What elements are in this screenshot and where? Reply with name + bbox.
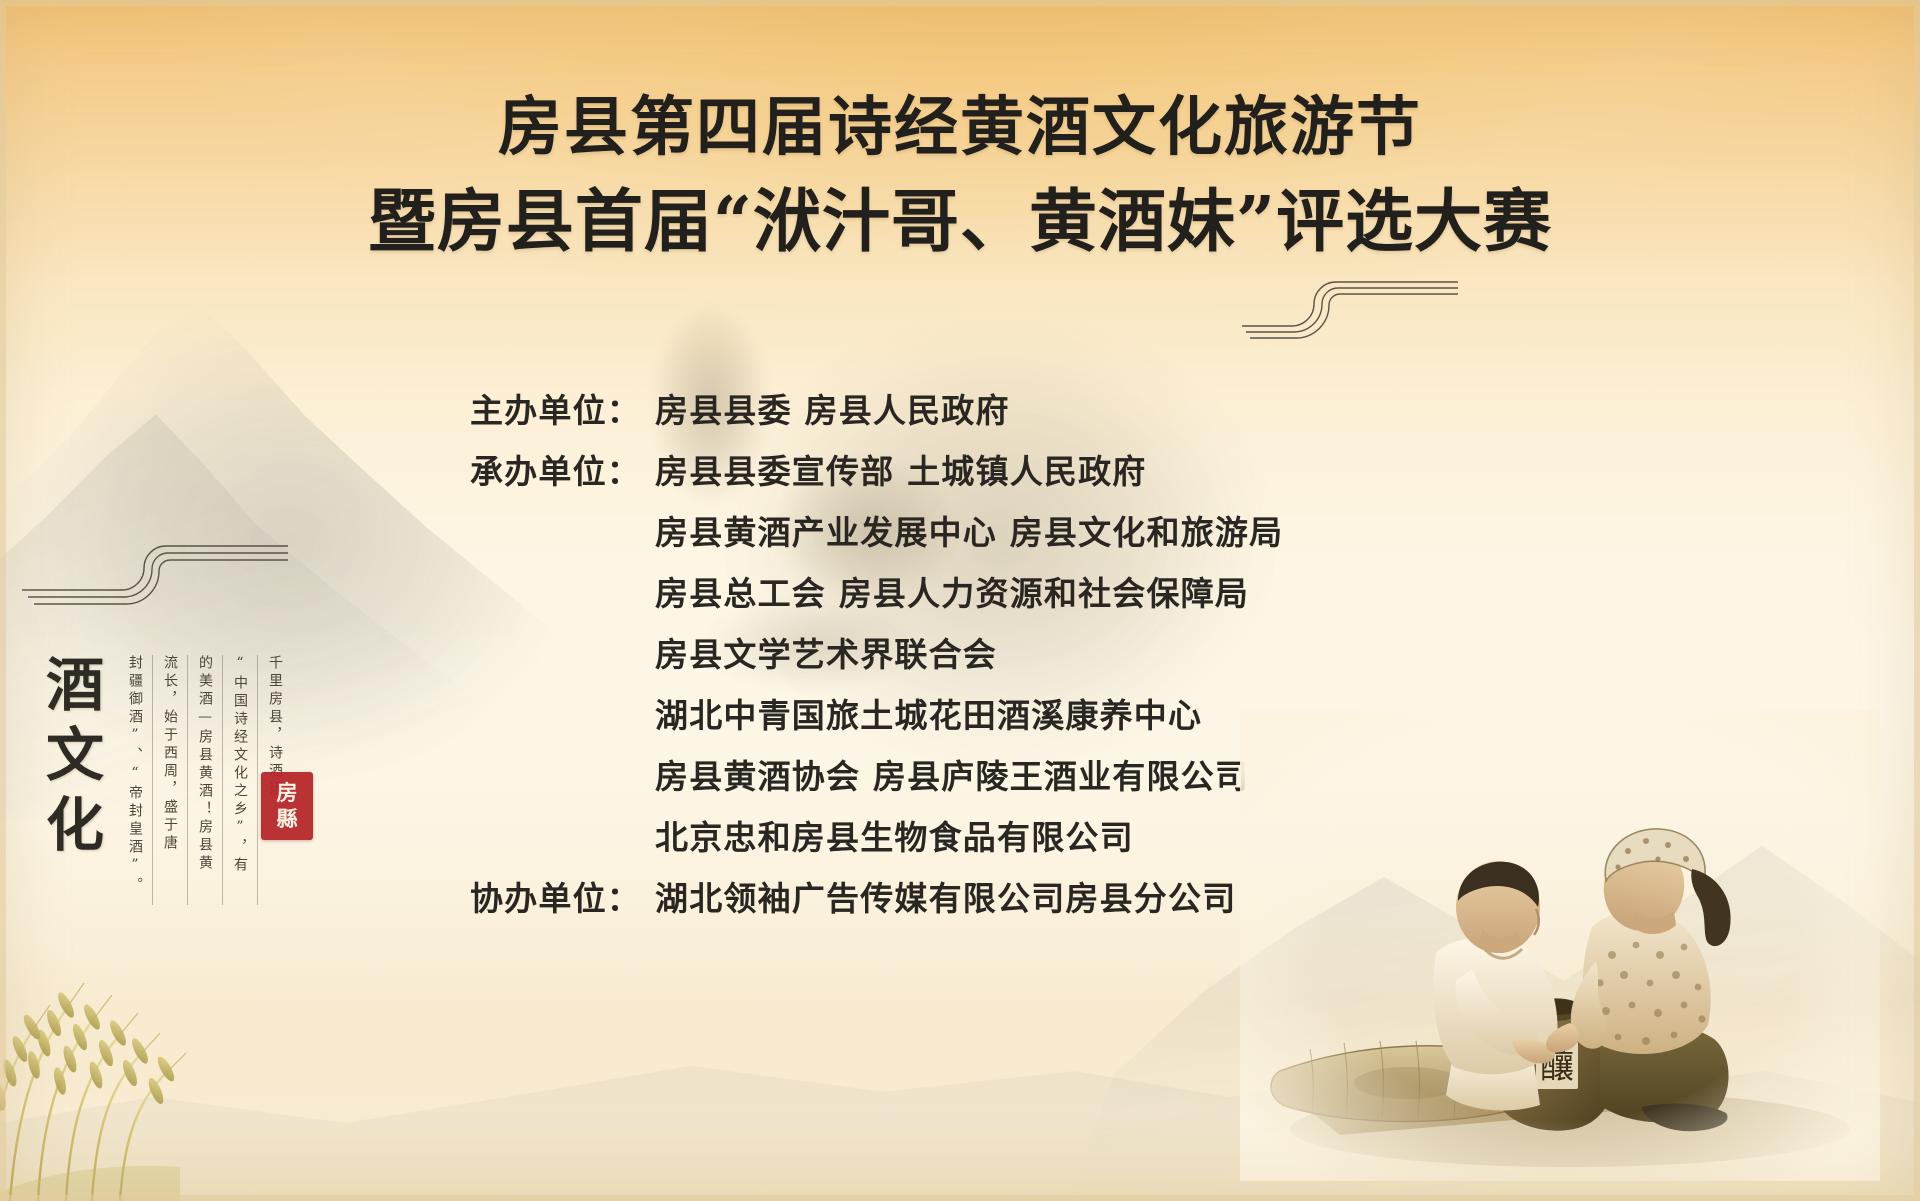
organizer-value: 房县总工会 房县人力资源和社会保障局 xyxy=(655,563,1530,624)
organizer-row: 主办单位： 房县县委 房县人民政府 xyxy=(470,380,1530,441)
title-block: 房县第四届诗经黄酒文化旅游节 暨房县首届“洑汁哥、黄酒妹”评选大赛 xyxy=(0,86,1920,268)
organizer-row: 房县文学艺术界联合会 xyxy=(470,624,1530,685)
organizer-list: 主办单位： 房县县委 房县人民政府 承办单位： 房县县委宣传部 土城镇人民政府 … xyxy=(470,380,1530,929)
vertical-text-column: 的美酒—房县黄酒！房县黄 xyxy=(187,655,222,905)
ink-mountain-bottom xyxy=(0,941,1920,1201)
vertical-text-column: “中国诗经文化之乡”，有 xyxy=(222,655,257,905)
organizer-value: 湖北中青国旅土城花田酒溪康养中心 xyxy=(655,685,1530,746)
organizer-value: 湖北领袖广告传媒有限公司房县分公司 xyxy=(655,868,1530,929)
wheat-stalks-illustration xyxy=(0,871,360,1201)
organizer-row: 协办单位： 湖北领袖广告传媒有限公司房县分公司 xyxy=(470,868,1530,929)
organizer-value: 房县县委宣传部 土城镇人民政府 xyxy=(655,441,1530,502)
organizer-value: 房县文学艺术界联合会 xyxy=(655,624,1530,685)
red-seal-stamp: 房 縣 xyxy=(261,772,313,840)
organizer-row: 北京忠和房县生物食品有限公司 xyxy=(470,807,1530,868)
page-title-line-2: 暨房县首届“洑汁哥、黄酒妹”评选大赛 xyxy=(0,176,1920,268)
organizer-label: 主办单位： xyxy=(470,380,655,441)
organizer-value: 北京忠和房县生物食品有限公司 xyxy=(655,807,1530,868)
vertical-heading-jiu-wen-hua: 酒 文 化 xyxy=(30,650,120,860)
vertical-text-column: 流长，始于西周，盛于唐 xyxy=(152,655,187,905)
organizer-row: 房县黄酒协会 房县庐陵王酒业有限公司 xyxy=(470,746,1530,807)
svg-text:釀: 釀 xyxy=(1540,1047,1574,1087)
organizer-row: 房县总工会 房县人力资源和社会保障局 xyxy=(470,563,1530,624)
vertical-heading-char: 文 xyxy=(30,720,120,790)
organizer-value: 房县黄酒协会 房县庐陵王酒业有限公司 xyxy=(655,746,1530,807)
vertical-heading-char: 化 xyxy=(30,790,120,860)
vertical-text-column: 封疆御酒”、“帝封皇酒”。 xyxy=(118,655,152,905)
organizer-row: 湖北中青国旅土城花田酒溪康养中心 xyxy=(470,685,1530,746)
page-title-line-1: 房县第四届诗经黄酒文化旅游节 xyxy=(0,86,1920,170)
ruyi-cloud-icon-left xyxy=(20,538,290,628)
organizer-value: 房县县委 房县人民政府 xyxy=(655,380,1530,441)
organizer-value: 房县黄酒产业发展中心 房县文化和旅游局 xyxy=(655,502,1530,563)
poster-canvas: 房县第四届诗经黄酒文化旅游节 暨房县首届“洑汁哥、黄酒妹”评选大赛 主办单位： … xyxy=(0,0,1920,1201)
ruyi-cloud-icon-right xyxy=(1240,276,1460,356)
vertical-heading-char: 酒 xyxy=(30,650,120,720)
seal-char: 縣 xyxy=(277,806,298,832)
organizer-row: 房县黄酒产业发展中心 房县文化和旅游局 xyxy=(470,502,1530,563)
organizer-label: 协办单位： xyxy=(470,868,655,929)
organizer-row: 承办单位： 房县县委宣传部 土城镇人民政府 xyxy=(470,441,1530,502)
ink-mist-overlay xyxy=(0,1001,1920,1201)
seal-char: 房 xyxy=(277,780,298,806)
organizer-label: 承办单位： xyxy=(470,441,655,502)
